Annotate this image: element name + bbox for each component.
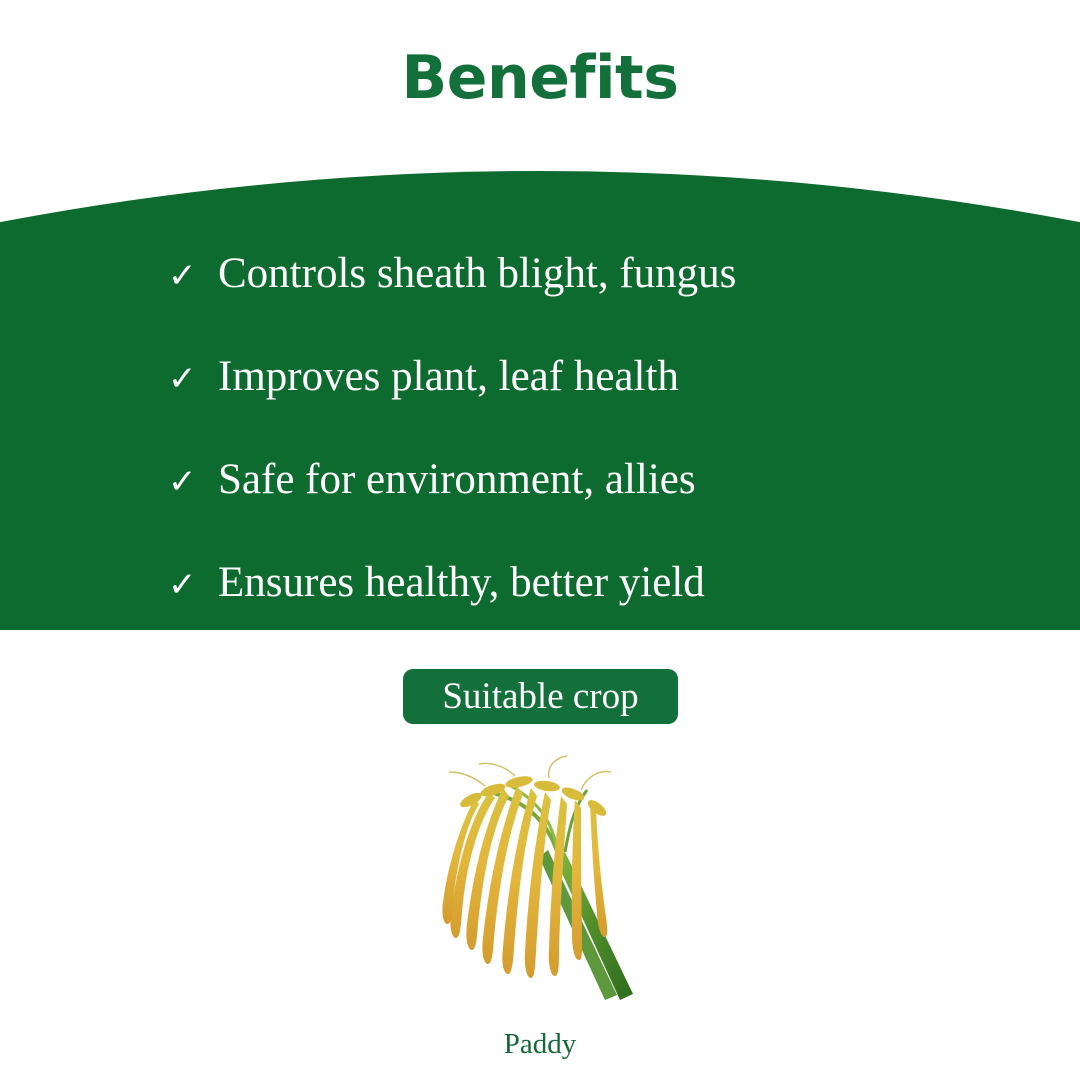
list-item: ✓ Ensures healthy, better yield	[168, 561, 705, 604]
paddy-plant-icon	[415, 742, 665, 1012]
benefits-list: ✓ Controls sheath blight, fungus ✓ Impro…	[0, 140, 1080, 630]
check-icon: ✓	[168, 362, 218, 396]
status-badge: Suitable crop	[403, 669, 678, 724]
status-badge-label: Suitable crop	[442, 678, 638, 715]
benefits-panel: ✓ Controls sheath blight, fungus ✓ Impro…	[0, 140, 1080, 630]
benefits-card: Benefits ✓ Controls sheath blight, fungu…	[0, 0, 1080, 1080]
benefit-text: Controls sheath blight, fungus	[218, 252, 736, 295]
check-icon: ✓	[168, 259, 218, 293]
crop-caption: Paddy	[0, 1030, 1080, 1059]
benefit-text: Ensures healthy, better yield	[218, 561, 705, 604]
list-item: ✓ Safe for environment, allies	[168, 458, 696, 501]
paddy-rice-panicle-image	[415, 742, 665, 1012]
check-icon: ✓	[168, 465, 218, 499]
page-title: Benefits	[0, 48, 1080, 108]
benefit-text: Safe for environment, allies	[218, 458, 696, 501]
list-item: ✓ Improves plant, leaf health	[168, 355, 679, 398]
benefit-text: Improves plant, leaf health	[218, 355, 679, 398]
check-icon: ✓	[168, 568, 218, 602]
list-item: ✓ Controls sheath blight, fungus	[168, 252, 736, 295]
